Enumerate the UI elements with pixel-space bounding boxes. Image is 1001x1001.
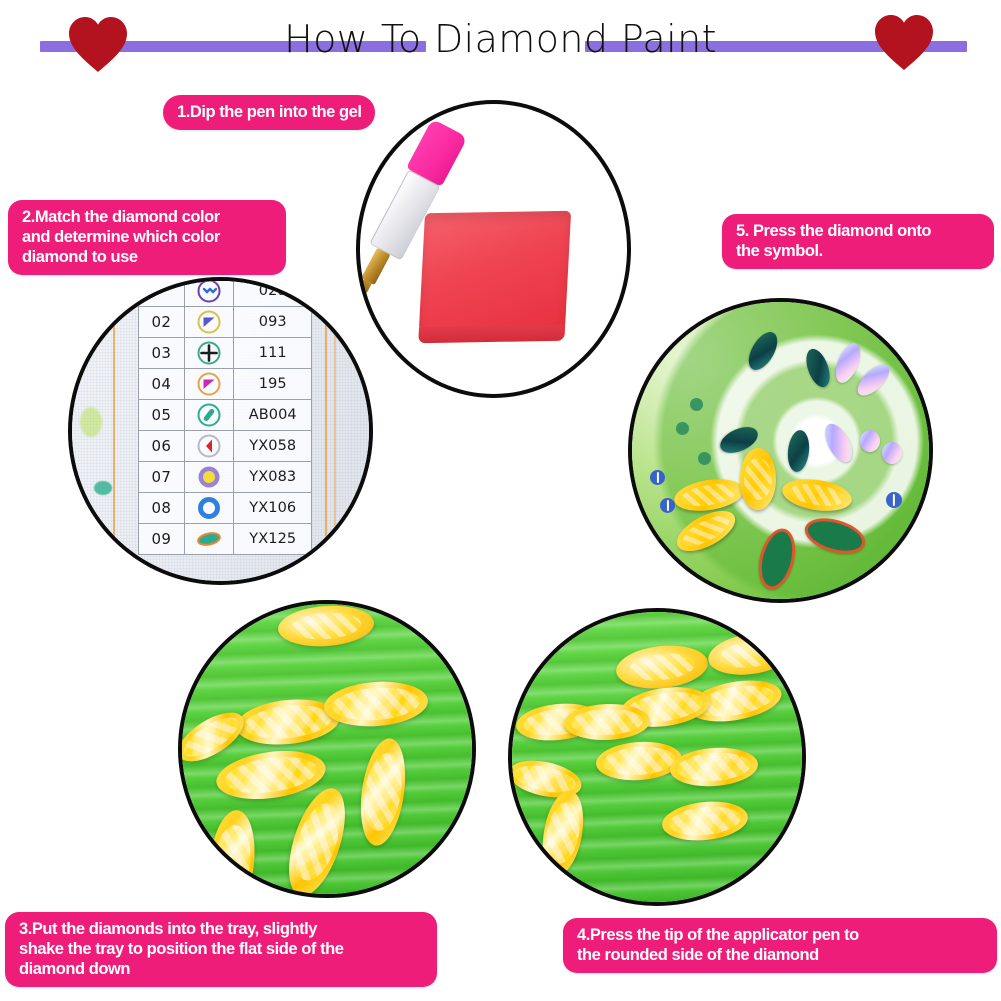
gel-pad [419,211,571,332]
step-4-label: 4.Press the tip of the applicator pen to… [563,918,997,973]
chart-symbol-slash-capsule [184,400,234,431]
chart-code: 093 [234,307,312,338]
table-row: 03 111 [139,338,312,369]
table-row: 05 AB004 [139,400,312,431]
chart-number: 02 [139,307,185,338]
step-3-line-1: 3.Put the diamonds into the tray, slight… [19,919,423,939]
step-5-photo [628,298,933,603]
table-row: 07 YX083 [139,462,312,493]
canvas-gem [882,442,902,464]
step-3-line-2: shake the tray to position the flat side… [19,939,423,959]
table-row: 09 YX125 [139,524,312,555]
chart-symbol-open-ring [184,493,234,524]
step-2-line-2: and determine which color [22,227,272,247]
yellow-diamond-placed [740,448,776,510]
canvas-gem [860,430,880,452]
chart-number: 06 [139,431,185,462]
table-row: 02 093 [139,307,312,338]
step-4-line-1: 4.Press the tip of the applicator pen to [577,925,983,945]
chart-number: 04 [139,369,185,400]
step-3-photo [178,600,476,898]
chart-number: 03 [139,338,185,369]
stray-diamond-green [80,407,102,437]
chart-code: YX106 [234,493,312,524]
step-3-line-3: diamond down [19,959,423,979]
heart-icon-right [872,12,936,72]
step-2-photo: 028 02 093 03 111 [68,277,373,585]
page-header: How To Diamond Paint [0,0,1001,86]
step-5-label: 5. Press the diamond onto the symbol. [722,214,994,269]
infographic-canvas: How To Diamond Paint 1.Dip the pen into … [0,0,1001,1001]
chart-symbol-triangle-magenta [184,369,234,400]
chart-symbol-dot-ring [184,462,234,493]
canvas-edge-line-right [325,281,327,581]
chart-number [139,281,185,307]
chart-code: 195 [234,369,312,400]
chart-symbol-chevron-left [184,431,234,462]
step-5-line-1: 5. Press the diamond onto [736,221,980,241]
step-1-line-1: 1.Dip the pen into the gel [177,102,361,122]
chart-code: YX125 [234,524,312,555]
chart-code: AB004 [234,400,312,431]
chart-symbol-circle-double-arrow [184,281,234,307]
step-4-photo [508,608,806,906]
chart-symbol-triangle-filled [184,307,234,338]
chart-code: 111 [234,338,312,369]
canvas-dot [660,498,675,513]
canvas-edge-line-left [113,281,115,581]
stray-diamond-teal [94,481,112,495]
canvas-dot [886,492,902,508]
table-row: 08 YX106 [139,493,312,524]
page-title: How To Diamond Paint [0,16,1001,62]
chart-symbol-leaf-marquise [184,524,234,555]
canvas-dot [698,452,711,465]
chart-number: 07 [139,462,185,493]
step-5-line-2: the symbol. [736,241,980,261]
table-row: 06 YX058 [139,431,312,462]
step-2-line-1: 2.Match the diamond color [22,207,272,227]
chart-symbol-plus-cross [184,338,234,369]
canvas-edge-line-right-2 [334,281,336,581]
chart-number: 05 [139,400,185,431]
chart-number: 09 [139,524,185,555]
table-row: 028 [139,281,312,307]
step-2-label: 2.Match the diamond color and determine … [8,200,286,275]
step-1-label: 1.Dip the pen into the gel [163,95,375,130]
canvas-dot [676,422,689,435]
step-1-photo [356,100,631,398]
canvas-dot [650,470,665,485]
canvas-dot [690,398,703,411]
step-2-line-3: diamond to use [22,247,272,267]
table-row: 04 195 [139,369,312,400]
chart-code: 028 [234,281,312,307]
chart-code: YX058 [234,431,312,462]
chart-number: 08 [139,493,185,524]
color-symbol-chart: 028 02 093 03 111 [138,281,312,555]
step-3-label: 3.Put the diamonds into the tray, slight… [5,912,437,987]
step-4-line-2: the rounded side of the diamond [577,945,983,965]
chart-code: YX083 [234,462,312,493]
